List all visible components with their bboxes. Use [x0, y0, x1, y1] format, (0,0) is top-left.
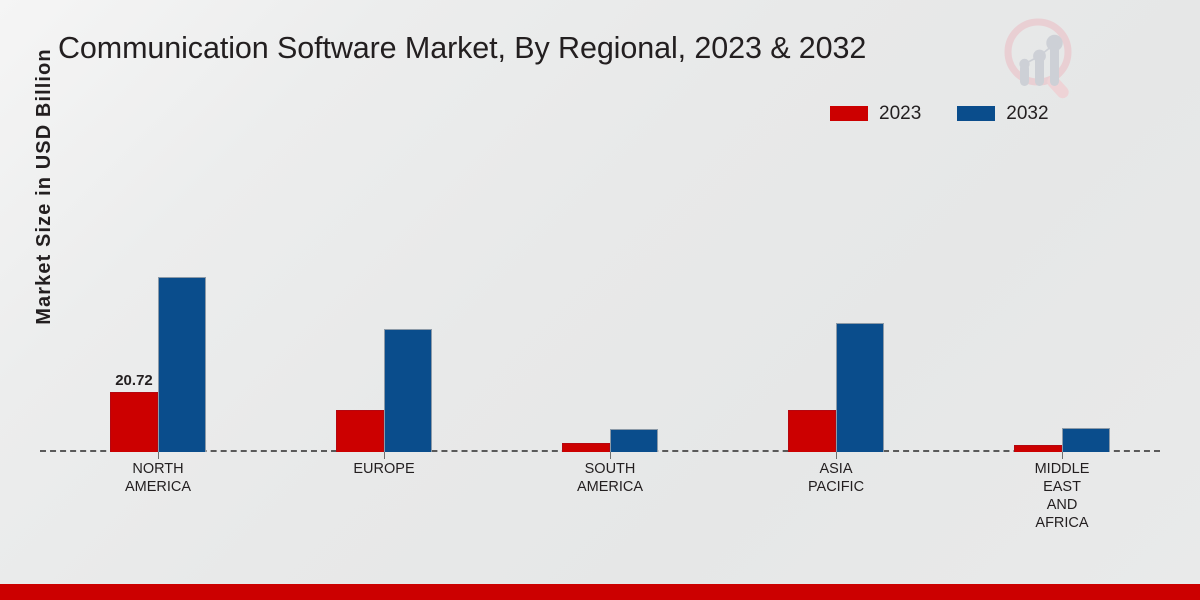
- bar-group-south-america: SOUTH AMERICA: [560, 140, 660, 452]
- x-label-europe: EUROPE: [322, 460, 446, 478]
- legend-item-2032[interactable]: 2032: [957, 104, 1048, 123]
- bar-2023-middle-east-and-africa[interactable]: [1014, 445, 1062, 452]
- footer-accent-bar: [0, 584, 1200, 600]
- bar-2032-north-america[interactable]: [158, 277, 206, 452]
- chart-figure: Communication Software Market, By Region…: [0, 0, 1200, 600]
- x-label-north-america: NORTH AMERICA: [96, 460, 220, 496]
- bar-2032-europe[interactable]: [384, 329, 432, 452]
- x-label-line: AMERICA: [96, 478, 220, 496]
- x-tick-asia-pacific: [836, 452, 837, 459]
- x-label-line: AMERICA: [548, 478, 672, 496]
- bar-2023-asia-pacific[interactable]: [788, 410, 836, 452]
- legend-swatch-2032-icon: [957, 106, 995, 121]
- bar-2032-south-america[interactable]: [610, 429, 658, 452]
- bar-group-asia-pacific: ASIA PACIFIC: [786, 140, 886, 452]
- legend-item-2023[interactable]: 2023: [830, 104, 921, 123]
- bar-2023-north-america[interactable]: 20.72: [110, 392, 158, 452]
- chart-legend: 2023 2032: [830, 104, 1049, 123]
- x-label-line: NORTH: [96, 460, 220, 478]
- bar-2032-middle-east-and-africa[interactable]: [1062, 428, 1110, 452]
- legend-label-2023: 2023: [879, 104, 921, 123]
- x-label-line: SOUTH: [548, 460, 672, 478]
- market-research-magnifier-logo-icon: [990, 12, 1094, 102]
- x-label-south-america: SOUTH AMERICA: [548, 460, 672, 496]
- x-label-line: MIDDLE: [1000, 460, 1124, 478]
- x-tick-middle-east-and-africa: [1062, 452, 1063, 459]
- bar-2032-asia-pacific[interactable]: [836, 323, 884, 452]
- page-title: Communication Software Market, By Region…: [58, 31, 866, 66]
- x-label-line: AND: [1000, 496, 1124, 514]
- x-label-middle-east-and-africa: MIDDLE EAST AND AFRICA: [1000, 460, 1124, 532]
- plot-area: 20.72 NORTH AMERICA EUROPE: [40, 140, 1160, 452]
- x-label-line: EUROPE: [322, 460, 446, 478]
- bar-group-middle-east-and-africa: MIDDLE EAST AND AFRICA: [1012, 140, 1112, 452]
- x-tick-south-america: [610, 452, 611, 459]
- legend-label-2032: 2032: [1006, 104, 1048, 123]
- bar-group-europe: EUROPE: [334, 140, 434, 452]
- x-tick-north-america: [158, 452, 159, 459]
- bar-group-north-america: 20.72 NORTH AMERICA: [108, 140, 208, 452]
- x-label-asia-pacific: ASIA PACIFIC: [774, 460, 898, 496]
- x-tick-europe: [384, 452, 385, 459]
- bar-2023-europe[interactable]: [336, 410, 384, 452]
- bar-value-2023-north-america: 20.72: [107, 372, 161, 389]
- x-label-line: PACIFIC: [774, 478, 898, 496]
- x-label-line: AFRICA: [1000, 514, 1124, 532]
- x-label-line: ASIA: [774, 460, 898, 478]
- legend-swatch-2023-icon: [830, 106, 868, 121]
- bar-2023-south-america[interactable]: [562, 443, 610, 452]
- x-label-line: EAST: [1000, 478, 1124, 496]
